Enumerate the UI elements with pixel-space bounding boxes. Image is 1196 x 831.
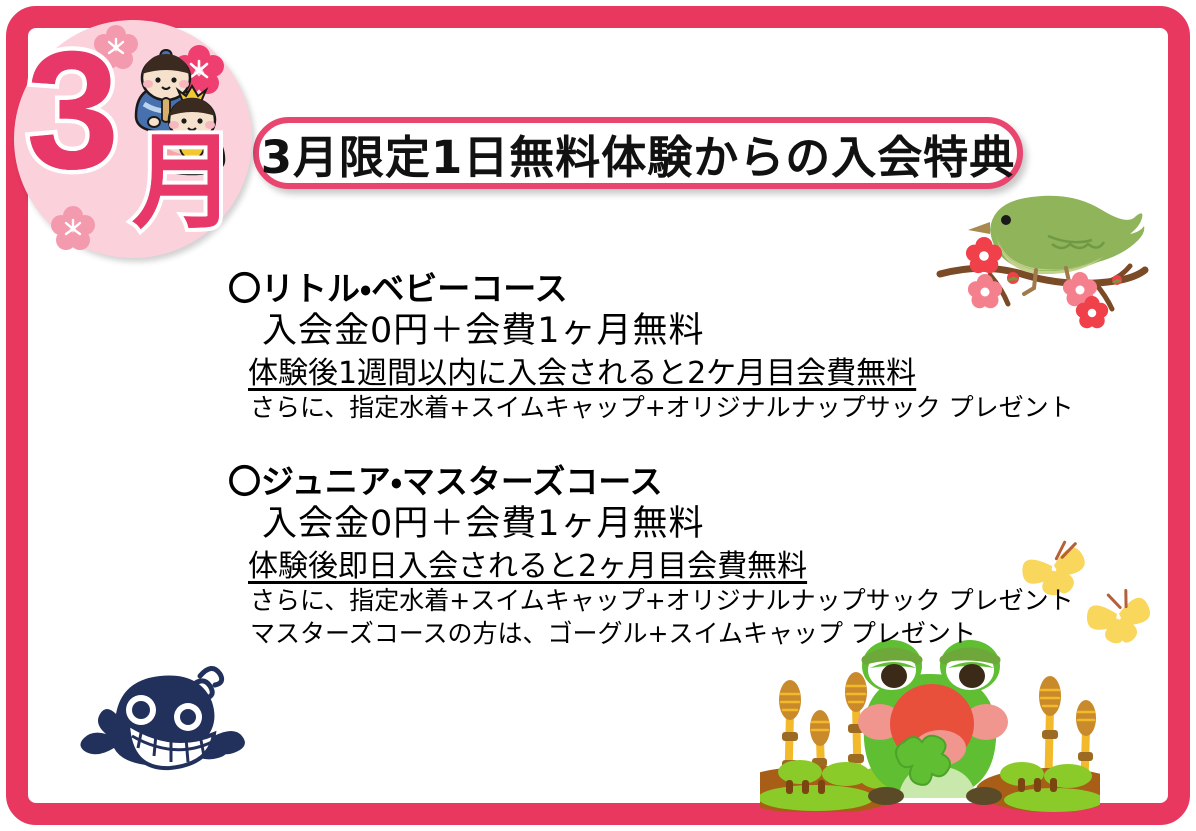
course-note: さらに、指定水着+スイムキャップ+オリジナルナップサック プレゼント <box>250 392 1158 425</box>
badge-month-number: 3 <box>26 26 119 194</box>
course-price: 入会金0円＋会費1ヶ月無料 <box>262 309 1158 355</box>
title-banner: 3月限定1日無料体験からの入会特典 <box>253 117 1023 189</box>
badge-month-kanji: 月 <box>132 130 236 234</box>
course-heading: 〇ジュニア・マスターズコース <box>228 461 1158 502</box>
page-title: 3月限定1日無料体験からの入会特典 <box>261 121 1016 186</box>
plum-blossom-icon <box>48 204 98 254</box>
course-condition: 体験後1週間以内に入会されると2ケ月目会費無料 <box>248 355 1158 393</box>
course-note: マスターズコースの方は、ゴーグル+スイムキャップ プレゼント <box>250 618 1158 651</box>
course-block-little-baby: 〇リトル・ベビーコース 入会金0円＋会費1ヶ月無料 体験後1週間以内に入会される… <box>228 268 1158 425</box>
course-block-junior-masters: 〇ジュニア・マスターズコース 入会金0円＋会費1ヶ月無料 体験後即日入会されると… <box>228 461 1158 650</box>
promo-poster: 3 3 月 月 3月限定1日無料体験からの入会特典 〇リトル・ベビーコース 入会… <box>0 0 1196 831</box>
course-heading: 〇リトル・ベビーコース <box>228 268 1158 309</box>
march-badge: 3 3 月 月 <box>14 20 252 258</box>
course-price: 入会金0円＋会費1ヶ月無料 <box>262 502 1158 548</box>
course-note: さらに、指定水着+スイムキャップ+オリジナルナップサック プレゼント <box>250 585 1158 618</box>
course-condition: 体験後即日入会されると2ヶ月目会費無料 <box>248 548 1158 586</box>
offer-details: 〇リトル・ベビーコース 入会金0円＋会費1ヶ月無料 体験後1週間以内に入会される… <box>228 268 1158 686</box>
